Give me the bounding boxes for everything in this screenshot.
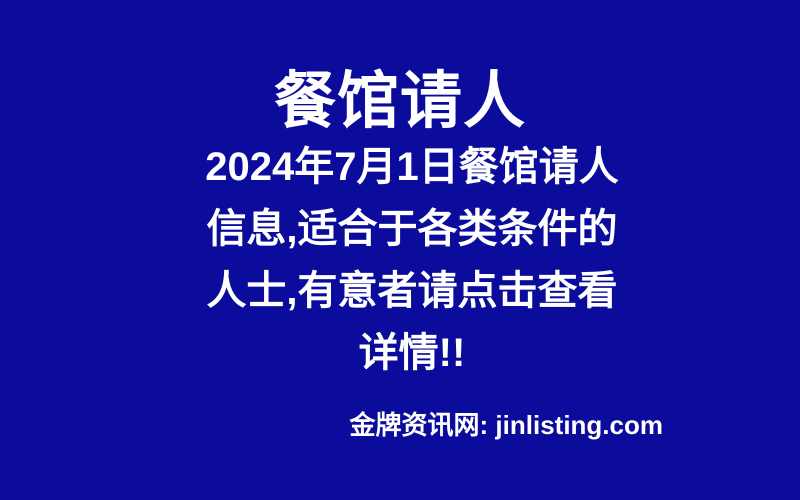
- footer-site-name: 金牌资讯网:: [350, 410, 489, 440]
- poster-canvas: 餐馆请人 2024年7月1日餐馆请人 信息,适合于各类条件的 人士,有意者请点击…: [0, 0, 800, 500]
- page-title: 餐馆请人: [0, 66, 800, 138]
- body-line: 2024年7月1日餐馆请人: [24, 136, 800, 198]
- poster-body-text: 2024年7月1日餐馆请人 信息,适合于各类条件的 人士,有意者请点击查看 详情…: [0, 136, 800, 384]
- body-line: 信息,适合于各类条件的: [24, 198, 800, 260]
- footer-attribution: 金牌资讯网: jinlisting.com: [0, 409, 800, 441]
- body-line: 人士,有意者请点击查看: [24, 260, 800, 322]
- body-line: 详情!!: [24, 322, 800, 384]
- footer-domain: jinlisting.com: [495, 410, 663, 440]
